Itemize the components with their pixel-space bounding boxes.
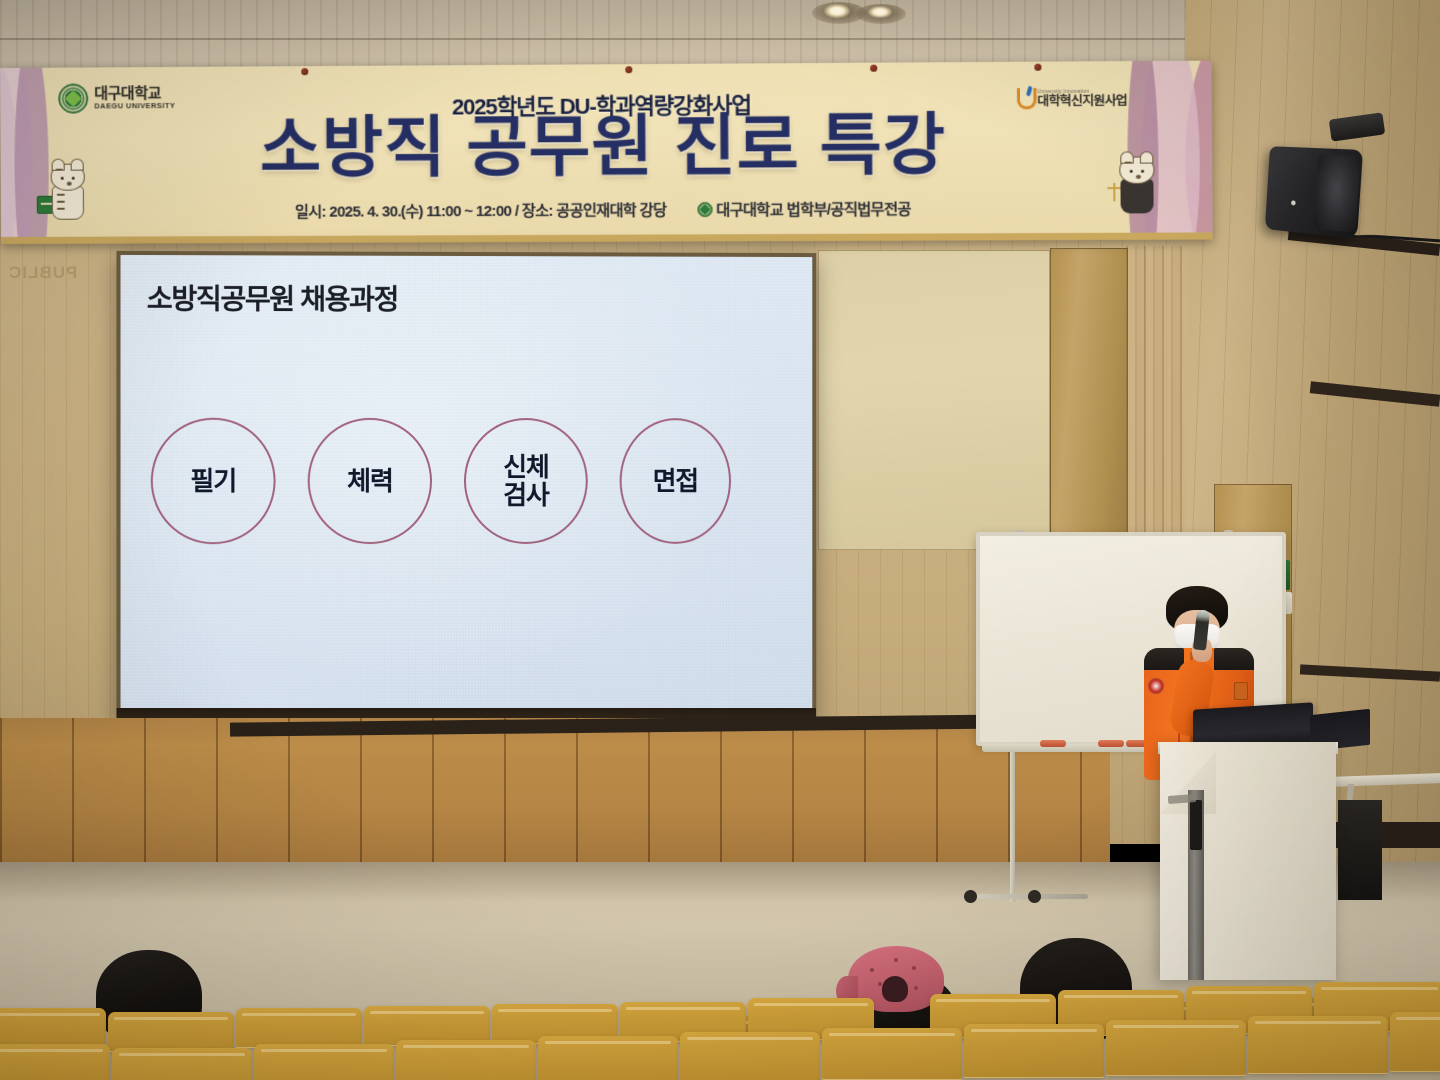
- slide-step-label: 면접: [653, 467, 698, 495]
- whiteboard-marker: [1098, 740, 1124, 747]
- seat: [1390, 1012, 1440, 1072]
- slide-step-circle: 면접: [620, 418, 731, 544]
- banner-department: 대구대학교 법학부/공직법무전공: [697, 198, 911, 220]
- podium-control-panel[interactable]: [1190, 800, 1202, 850]
- wall-panel: [818, 250, 1050, 550]
- slide-step-label: 체력: [347, 467, 393, 495]
- whiteboard-marker: [1040, 740, 1066, 747]
- tiger-mascot-right-icon: [1109, 152, 1165, 215]
- seat: [0, 1044, 110, 1080]
- seat: [538, 1036, 678, 1080]
- seat: [396, 1040, 536, 1080]
- seat: [964, 1024, 1104, 1078]
- audience-seating: [0, 968, 1440, 1080]
- seat: [0, 1008, 106, 1048]
- slide-title: 소방직공무원 채용과정: [147, 277, 398, 318]
- ceiling-downlight: [824, 4, 850, 18]
- slide-step-circle: 필기: [151, 418, 276, 545]
- slide-step-label: 필기: [190, 467, 236, 495]
- tiger-mascot-left-icon: [41, 160, 95, 222]
- seat: [108, 1012, 234, 1052]
- wall-ghost-text: PUBLIC: [8, 262, 134, 310]
- pa-speaker-icon: [1265, 146, 1363, 239]
- uniform-shoulder-patch: [1148, 678, 1164, 694]
- wall-slats: [1126, 246, 1188, 552]
- floor-equipment-box: [1338, 800, 1382, 900]
- seat: [680, 1032, 820, 1080]
- seat: [822, 1028, 962, 1080]
- seat: [1106, 1020, 1246, 1076]
- seat: [236, 1008, 362, 1048]
- department-label: 대구대학교 법학부/공직법무전공: [716, 198, 911, 220]
- lecture-hall-photo: 대구대학교 DAEGU UNIVERSITY University Innova…: [0, 0, 1440, 1080]
- projection-screen: 소방직공무원 채용과정 필기 체력 신체 검사 면접: [117, 251, 817, 723]
- slide-step-circle: 체력: [308, 418, 432, 544]
- banner-title: 소방직 공무원 진로 특강: [0, 109, 1212, 182]
- slide-step-circle: 신체 검사: [464, 418, 588, 544]
- banner-info-row: 일시: 2025. 4. 30.(수) 11:00 ~ 12:00 / 장소: …: [1, 197, 1213, 223]
- wall-door-panel: [1050, 248, 1128, 548]
- seat: [254, 1044, 394, 1080]
- uniform-badge: [1234, 682, 1248, 700]
- banner-datetime-venue: 일시: 2025. 4. 30.(수) 11:00 ~ 12:00 / 장소: …: [295, 199, 666, 222]
- seat: [112, 1048, 252, 1080]
- lectern: [1160, 742, 1336, 980]
- slide-step-diagram: 필기 체력 신체 검사 면접: [151, 411, 791, 552]
- slide-step-label: 신체 검사: [503, 453, 548, 509]
- ceiling-downlight: [868, 6, 892, 18]
- stage-wall-paneling: [0, 718, 1110, 870]
- seat: [1248, 1016, 1388, 1074]
- department-seal-icon: [697, 202, 712, 217]
- event-banner: 대구대학교 DAEGU UNIVERSITY University Innova…: [0, 61, 1213, 244]
